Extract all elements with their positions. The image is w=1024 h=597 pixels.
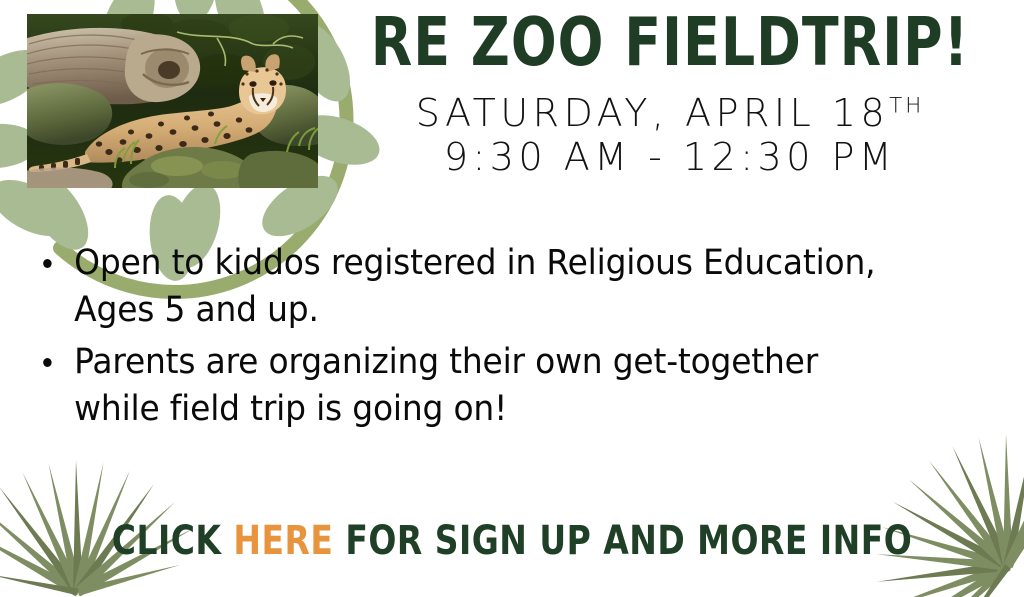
list-item-text: Open to kiddos registered in Religious E… (74, 243, 875, 330)
flyer-canvas: RE ZOO FIELDTRIP! SATURDAY, APRIL 18TH 9… (0, 0, 1024, 597)
event-date: SATURDAY, APRIL 18TH (330, 94, 1010, 134)
event-date-ordinal-suffix: TH (889, 93, 924, 118)
list-item: Parents are organizing their own get-tog… (30, 339, 876, 432)
detail-list: Open to kiddos registered in Religious E… (30, 240, 930, 438)
headline-block: RE ZOO FIELDTRIP! SATURDAY, APRIL 18TH 9… (330, 10, 1010, 180)
list-item-text: Parents are organizing their own get-tog… (74, 342, 818, 429)
cta-link[interactable]: CLICK HERE FOR SIGN UP AND MORE INFO (15, 517, 1008, 564)
page-title: RE ZOO FIELDTRIP! (337, 8, 1003, 76)
cheetah-photo (27, 14, 318, 188)
list-item: Open to kiddos registered in Religious E… (30, 240, 876, 333)
cta-text-before: CLICK (112, 517, 234, 564)
bullet-dot-icon (43, 259, 51, 268)
cta-text-after: FOR SIGN UP AND MORE INFO (333, 517, 912, 564)
agave-frond-burst-right (876, 434, 1024, 597)
event-time: 9:30 AM - 12:30 PM (330, 136, 1010, 180)
cta-here-highlight[interactable]: HERE (233, 517, 333, 564)
event-date-text: SATURDAY, APRIL 18 (416, 91, 889, 135)
bullet-dot-icon (43, 358, 51, 367)
